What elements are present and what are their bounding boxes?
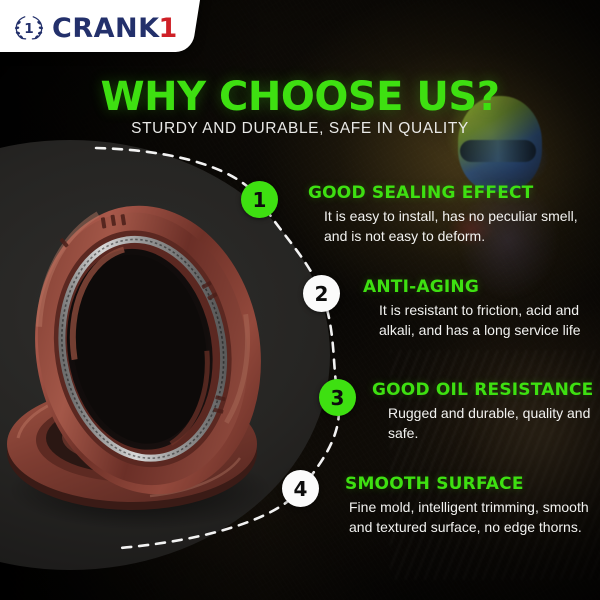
brand-wordmark: CRANK1 [52, 15, 178, 42]
feature-item-1: GOOD SEALING EFFECT It is easy to instal… [308, 183, 590, 247]
product-image-oil-seals [0, 190, 280, 530]
feature-item-2: ANTI-AGING It is resistant to friction, … [363, 277, 595, 341]
feature-marker-1[interactable]: 1 [241, 181, 278, 218]
page-subtitle: STURDY AND DURABLE, SAFE IN QUALITY [0, 120, 600, 138]
feature-4-body: Fine mold, intelligent trimming, smooth … [349, 498, 595, 538]
feature-1-body: It is easy to install, has no peculiar s… [324, 207, 590, 247]
oil-seal-illustration [0, 190, 280, 530]
laurel-wreath-icon: 1 [12, 12, 46, 42]
feature-3-heading: GOOD OIL RESISTANCE [372, 380, 596, 400]
wreath-numeral: 1 [24, 21, 33, 37]
feature-4-heading: SMOOTH SURFACE [345, 474, 595, 494]
feature-1-heading: GOOD SEALING EFFECT [308, 183, 590, 203]
feature-marker-2[interactable]: 2 [303, 275, 340, 312]
feature-marker-2-number: 2 [315, 282, 329, 306]
feature-marker-3-number: 3 [331, 386, 345, 410]
page-title: WHY CHOOSE US? [0, 74, 600, 120]
feature-item-4: SMOOTH SURFACE Fine mold, intelligent tr… [345, 474, 595, 538]
feature-marker-1-number: 1 [253, 188, 267, 212]
feature-2-heading: ANTI-AGING [363, 277, 595, 297]
feature-2-body: It is resistant to friction, acid and al… [379, 301, 595, 341]
feature-marker-4[interactable]: 4 [282, 470, 319, 507]
brand-name-main: CRANK [52, 15, 160, 42]
feature-3-body: Rugged and durable, quality and safe. [388, 404, 596, 444]
brand-name-accent: 1 [159, 15, 178, 42]
feature-item-3: GOOD OIL RESISTANCE Rugged and durable, … [372, 380, 596, 444]
promo-banner: 1 2 3 4 GOOD SEALING EFFECT It is easy t… [0, 0, 600, 600]
feature-marker-4-number: 4 [294, 477, 308, 501]
feature-marker-3[interactable]: 3 [319, 379, 356, 416]
brand-logo-banner[interactable]: 1 CRANK1 [0, 0, 202, 52]
